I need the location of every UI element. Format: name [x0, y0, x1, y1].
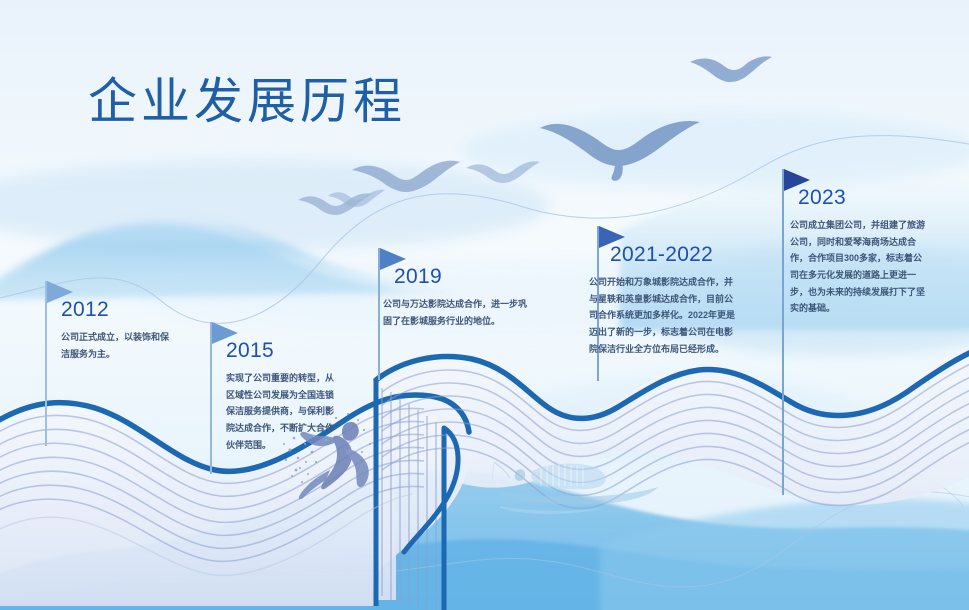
milestone-description: 公司开始和万象城影院达成合作，并与星轶和英皇影城达成合作，目前公司合作系统更加多…	[589, 274, 737, 357]
milestone-year: 2015	[226, 339, 274, 363]
bird-icon	[352, 161, 460, 192]
infographic-canvas: 企业发展历程 2012 公司正式成立，以装饰和保洁服务为主。 2015 实现了公…	[0, 0, 969, 610]
flag-pole-icon	[45, 281, 47, 446]
bird-icon	[328, 190, 385, 207]
milestone-description: 实现了公司重要的转型，从区域性公司发展为全国连锁保洁服务提供商，与保利影院达成合…	[226, 370, 338, 453]
bird-icon	[690, 56, 772, 82]
milestone-year: 2021-2022	[610, 243, 713, 267]
bird-icon	[298, 193, 372, 215]
bird-icon	[540, 121, 700, 181]
milestone-year: 2019	[394, 265, 442, 289]
milestone-year: 2012	[61, 298, 109, 322]
page-title: 企业发展历程	[88, 62, 406, 133]
bird-icon	[466, 161, 540, 183]
milestone-description: 公司正式成立，以装饰和保洁服务为主。	[61, 329, 173, 362]
mountain-bottom	[0, 470, 969, 610]
flag-pole-icon	[782, 169, 784, 495]
flag-pole-icon	[210, 322, 212, 474]
milestone-description: 公司与万达影院达成合作，进一步巩固了在影城服务行业的地位。	[383, 296, 531, 329]
timeline-ribbon	[0, 344, 969, 610]
milestone-description: 公司成立集团公司，并组建了旅游公司，同时和爱琴海商场达成合作，合作项目300多家…	[790, 217, 930, 317]
fisherman-boat-icon	[492, 462, 658, 514]
milestone-year: 2023	[798, 186, 846, 210]
